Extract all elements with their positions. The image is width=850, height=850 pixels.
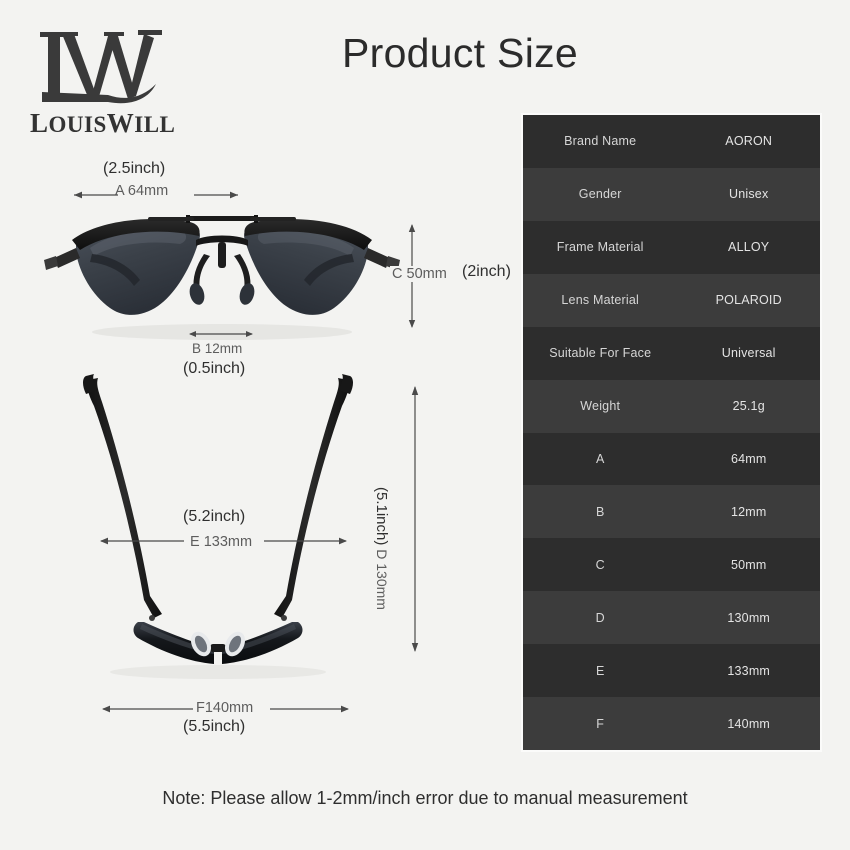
dimension-c-inch-label: (2inch) [462,263,511,281]
product-size-infographic: LOUISWILL Product Size [0,0,850,850]
spec-row-value: Universal [677,346,820,360]
measurement-note: Note: Please allow 1-2mm/inch error due … [0,788,850,809]
specification-table: Brand NameAORONGenderUnisexFrame Materia… [521,113,822,752]
spec-row-key: Brand Name [523,134,677,148]
dimension-b-mm-label: B 12mm [192,341,242,356]
spec-row-key: A [523,452,677,466]
spec-row-value: 64mm [677,452,820,466]
spec-row: Brand NameAORON [523,115,820,168]
dimension-f-mm-label: F140mm [193,700,256,716]
spec-row: B12mm [523,485,820,538]
dimension-d-mm-label: D 130mm [374,549,390,610]
spec-row-value: Unisex [677,187,820,201]
spec-row-key: Suitable For Face [523,346,677,360]
spec-row: D130mm [523,591,820,644]
spec-row-key: Gender [523,187,677,201]
dimension-d-inch-label: (5.1inch) [373,487,390,545]
spec-row-key: D [523,611,677,625]
spec-row: E133mm [523,644,820,697]
dimension-c-mm-label: C 50mm [390,266,449,282]
spec-row-value: 130mm [677,611,820,625]
sunglasses-front-view-image [38,196,406,351]
spec-row: Frame MaterialALLOY [523,221,820,274]
dimension-d-label-group: (5.1inch) D 130mm [371,484,392,613]
spec-row-key: Lens Material [523,293,677,307]
spec-row: Suitable For FaceUniversal [523,327,820,380]
dimension-b-arrow [186,329,256,339]
spec-row: A64mm [523,433,820,486]
spec-row: Lens MaterialPOLAROID [523,274,820,327]
dimension-d-arrow [409,384,421,654]
sunglasses-top-view-image [58,372,378,682]
spec-row: Weight25.1g [523,380,820,433]
spec-row-key: E [523,664,677,678]
dimension-e-arrow [98,536,348,546]
dimension-e-inch-label: (5.2inch) [183,508,245,526]
spec-row-value: 25.1g [677,399,820,413]
spec-row-value: 50mm [677,558,820,572]
spec-row-key: Weight [523,399,677,413]
dimension-b-inch-label: (0.5inch) [183,360,245,378]
spec-row-value: 133mm [677,664,820,678]
spec-row-value: 140mm [677,717,820,731]
spec-row-value: 12mm [677,505,820,519]
page-title: Product Size [0,30,850,77]
spec-row: F140mm [523,697,820,750]
dimension-a-arrow [72,190,240,200]
spec-row-key: Frame Material [523,240,677,254]
brand-wordmark: LOUISWILL [30,108,175,139]
spec-row-key: C [523,558,677,572]
spec-row-value: AORON [677,134,820,148]
spec-row-value: POLAROID [677,293,820,307]
spec-row-key: F [523,717,677,731]
spec-row-value: ALLOY [677,240,820,254]
page-title-text: Product Size [272,30,578,76]
dimension-f-inch-label: (5.5inch) [183,718,245,736]
spec-row: GenderUnisex [523,168,820,221]
spec-row: C50mm [523,538,820,591]
dimension-a-inch-label: (2.5inch) [103,160,165,178]
spec-row-key: B [523,505,677,519]
